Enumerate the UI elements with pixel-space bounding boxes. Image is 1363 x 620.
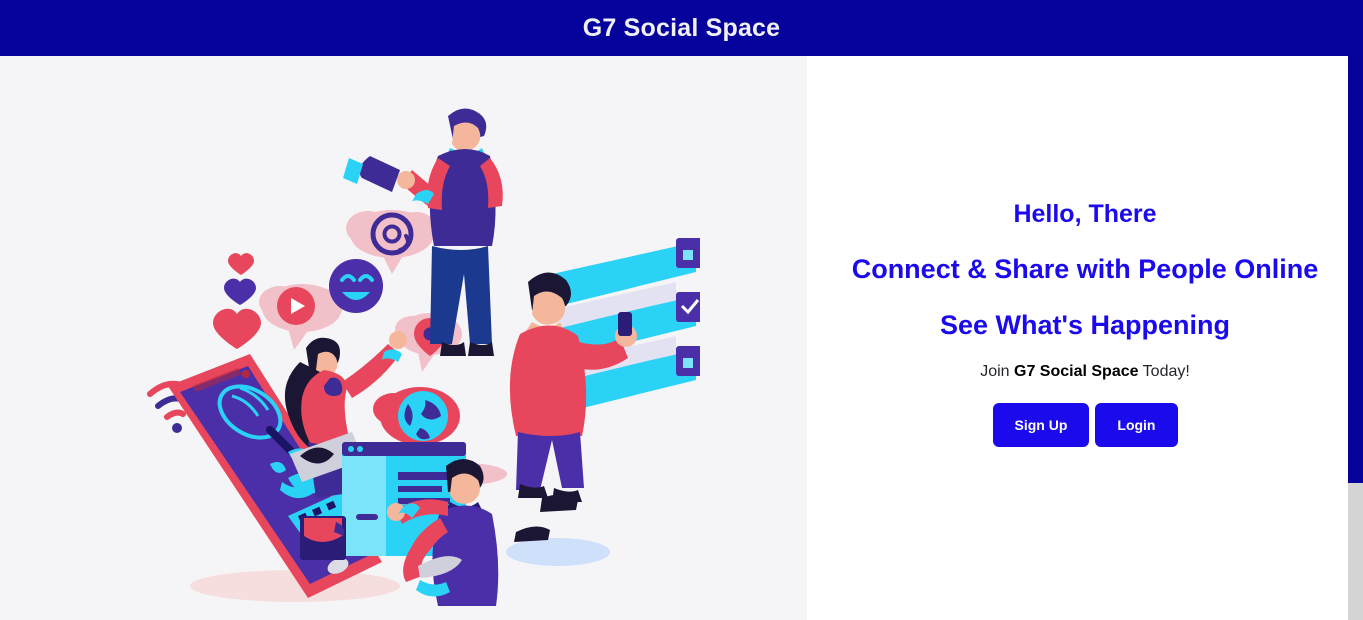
social-media-people-illustration	[120, 86, 700, 606]
hero-heading-3: See What's Happening	[821, 311, 1349, 339]
hero-content: Hello, There Connect & Share with People…	[807, 201, 1363, 448]
illustration-panel	[0, 56, 807, 620]
hero-heading-2: Connect & Share with People Online	[821, 255, 1349, 283]
app-header: G7 Social Space	[0, 0, 1363, 56]
smile-emoji-icon	[329, 259, 383, 313]
body-split: Hello, There Connect & Share with People…	[0, 56, 1363, 620]
hearts-icon	[213, 253, 261, 349]
page-scrollbar-thumb[interactable]	[1348, 56, 1363, 483]
join-prefix: Join	[980, 363, 1009, 380]
page-scrollbar-track[interactable]	[1348, 56, 1363, 620]
login-button[interactable]: Login	[1095, 403, 1177, 447]
join-suffix: Today!	[1143, 363, 1190, 380]
join-brand-name: G7 Social Space	[1014, 363, 1139, 380]
sign-up-button[interactable]: Sign Up	[993, 403, 1090, 447]
hero-heading-1: Hello, There	[821, 201, 1349, 227]
cta-button-row: Sign Up Login	[821, 403, 1349, 447]
hero-panel: Hello, There Connect & Share with People…	[807, 56, 1363, 620]
page-root: G7 Social Space	[0, 0, 1363, 620]
join-tagline: Join G7 Social Space Today!	[821, 363, 1349, 381]
page-title: G7 Social Space	[583, 14, 781, 43]
